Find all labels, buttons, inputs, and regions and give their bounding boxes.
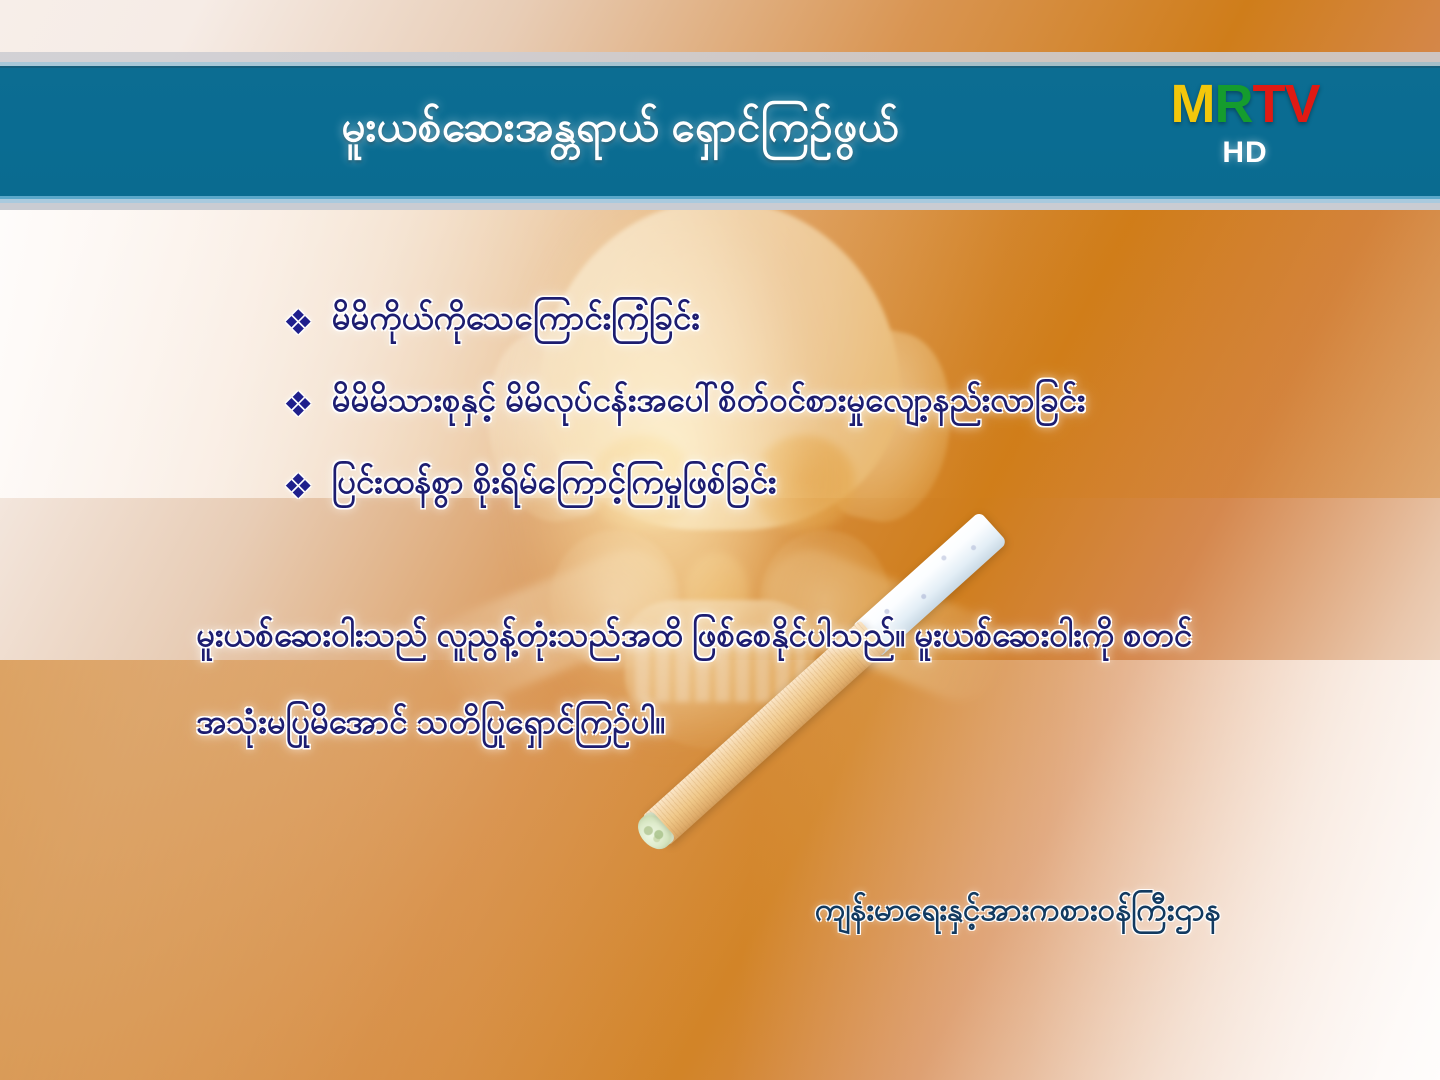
- bullet-list: ❖ မိမိကိုယ်ကိုသေကြောင်းကြံခြင်း ❖ မိမိမိ…: [283, 300, 1383, 546]
- ministry-attribution: ကျန်းမာရေးနှင့်အားကစားဝန်ကြီးဌာန: [815, 890, 1221, 936]
- bullet-label: မိမိကိုယ်ကိုသေကြောင်းကြံခြင်း: [331, 300, 699, 336]
- hd-badge: HD: [1150, 136, 1340, 170]
- diamond-bullet-icon: ❖: [283, 388, 313, 422]
- list-item: ❖ မိမိကိုယ်ကိုသေကြောင်းကြံခြင်း: [283, 300, 1383, 340]
- channel-logo-wordmark: MRTV: [1150, 76, 1340, 132]
- diamond-bullet-icon: ❖: [283, 306, 313, 340]
- broadcast-screen: မူးယစ်ဆေးအန္တရာယ် ရှောင်ကြဉ်ဖွယ် MRTV HD…: [0, 0, 1440, 1080]
- advisory-paragraph: မူးယစ်ဆေးဝါးသည် လူညွန့်တုံးသည်အထိ ဖြစ်စေ…: [196, 618, 1376, 791]
- page-title: မူးယစ်ဆေးအန္တရာယ် ရှောင်ကြဉ်ဖွယ်: [0, 66, 1240, 196]
- header-underline: [0, 196, 1440, 210]
- diamond-bullet-icon: ❖: [283, 470, 313, 504]
- channel-logo: MRTV HD: [1150, 76, 1340, 196]
- bullet-label: ပြင်းထန်စွာ စိုးရိမ်ကြောင့်ကြမှုဖြစ်ခြင်…: [331, 464, 776, 500]
- list-item: ❖ ပြင်းထန်စွာ စိုးရိမ်ကြောင့်ကြမှုဖြစ်ခြ…: [283, 464, 1383, 504]
- bullet-label: မိမိမိသားစုနှင့် မိမိလုပ်ငန်းအပေါ်စိတ်ဝင…: [331, 382, 1085, 418]
- list-item: ❖ မိမိမိသားစုနှင့် မိမိလုပ်ငန်းအပေါ်စိတ်…: [283, 382, 1383, 422]
- logo-letter-r: R: [1214, 74, 1252, 134]
- logo-letters-tv: TV: [1252, 74, 1319, 134]
- paragraph-line: မူးယစ်ဆေးဝါးသည် လူညွန့်တုံးသည်အထိ ဖြစ်စေ…: [196, 618, 1376, 653]
- paragraph-line: အသုံးမပြုမိအောင် သတိပြုရှောင်ကြဉ်ပါ။: [196, 705, 1376, 740]
- logo-letter-m: M: [1171, 74, 1215, 134]
